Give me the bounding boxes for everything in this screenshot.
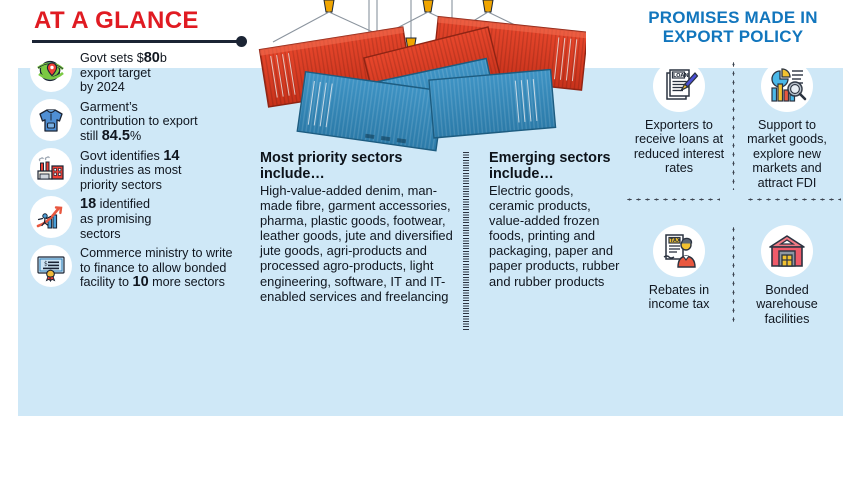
center-section: Most priority sectors include… High-valu… [256,0,621,348]
svg-text:LOAN: LOAN [673,73,689,79]
hoodie-garment-icon [30,99,72,141]
promise-label: Support to market goods, explore new mar… [737,118,837,190]
dotted-horizontal-divider [746,198,841,201]
promise-label: Bonded warehouse facilities [737,283,837,326]
market-research-chart-icon [761,60,813,112]
section-body: High-value-added denim, man-made fibre, … [260,183,457,304]
list-item-label: 18 identifiedas promisingsectors [80,194,248,241]
page-title: AT A GLANCE [18,8,256,34]
section-heading: Most priority sectors include… [260,150,457,182]
list-item: Govt identifies 14industries as mostprio… [30,146,256,193]
loan-document-pen-icon: LOAN [653,60,705,112]
promise-item-market-support: Support to market goods, explore new mar… [733,60,841,190]
list-item-label: Commerce ministry to writeto finance to … [80,243,248,290]
growth-chart-icon [30,196,72,238]
list-item-label: Govt sets $80bexport targetby 2024 [80,48,248,95]
dotted-vertical-divider [732,225,735,326]
rule-dot [236,36,247,47]
promise-item-bonded-warehouse: Bonded warehouse facilities [733,225,841,326]
list-item: Govt sets $80bexport targetby 2024 [30,48,256,95]
section-body: Electric goods, ceramic products, value-… [489,183,621,289]
promises-title: PROMISES MADE IN EXPORT POLICY [625,8,841,46]
promises-divider-row [625,190,841,211]
vertical-divider [463,152,469,330]
dotted-vertical-divider [732,60,735,190]
shipping-containers-illustration [256,0,586,162]
promises-grid-bottom: TAX Rebates in income tax [625,225,841,326]
section-heading: Emerging sectors include… [489,150,621,182]
rule-line [32,40,242,43]
list-item-label: Govt identifies 14industries as mostprio… [80,146,248,193]
bonded-warehouse-icon [761,225,813,277]
list-item-label: Garment’scontribution to exportstill 84.… [80,97,248,144]
promise-item-tax-rebate: TAX Rebates in income tax [625,225,733,326]
list-item: $ Commerce ministry to writeto finance t… [30,243,256,290]
promises-grid-top: LOAN Exporters to receive loans at reduc… [625,60,841,190]
tax-rebate-person-icon: TAX [653,225,705,277]
svg-text:TAX: TAX [670,238,681,244]
promise-label: Rebates in income tax [629,283,729,312]
promise-label: Exporters to receive loans at reduced in… [629,118,729,176]
promise-item-loans: LOAN Exporters to receive loans at reduc… [625,60,733,190]
promises-section: PROMISES MADE IN EXPORT POLICY LOAN [625,6,841,346]
globe-pin-icon [30,50,72,92]
most-priority-sectors-block: Most priority sectors include… High-valu… [260,150,457,330]
svg-text:$: $ [44,261,48,268]
certificate-icon: $ [30,245,72,287]
dotted-horizontal-divider [625,198,720,201]
list-item: Garment’scontribution to exportstill 84.… [30,97,256,144]
emerging-sectors-block: Emerging sectors include… Electric goods… [489,150,621,330]
factory-icon [30,148,72,190]
list-item: 18 identifiedas promisingsectors [30,194,256,241]
sectors-group: Most priority sectors include… High-valu… [260,150,621,330]
at-a-glance-section: AT A GLANCE Govt sets $80bexport targetb… [18,4,256,344]
title-rule [18,36,256,48]
